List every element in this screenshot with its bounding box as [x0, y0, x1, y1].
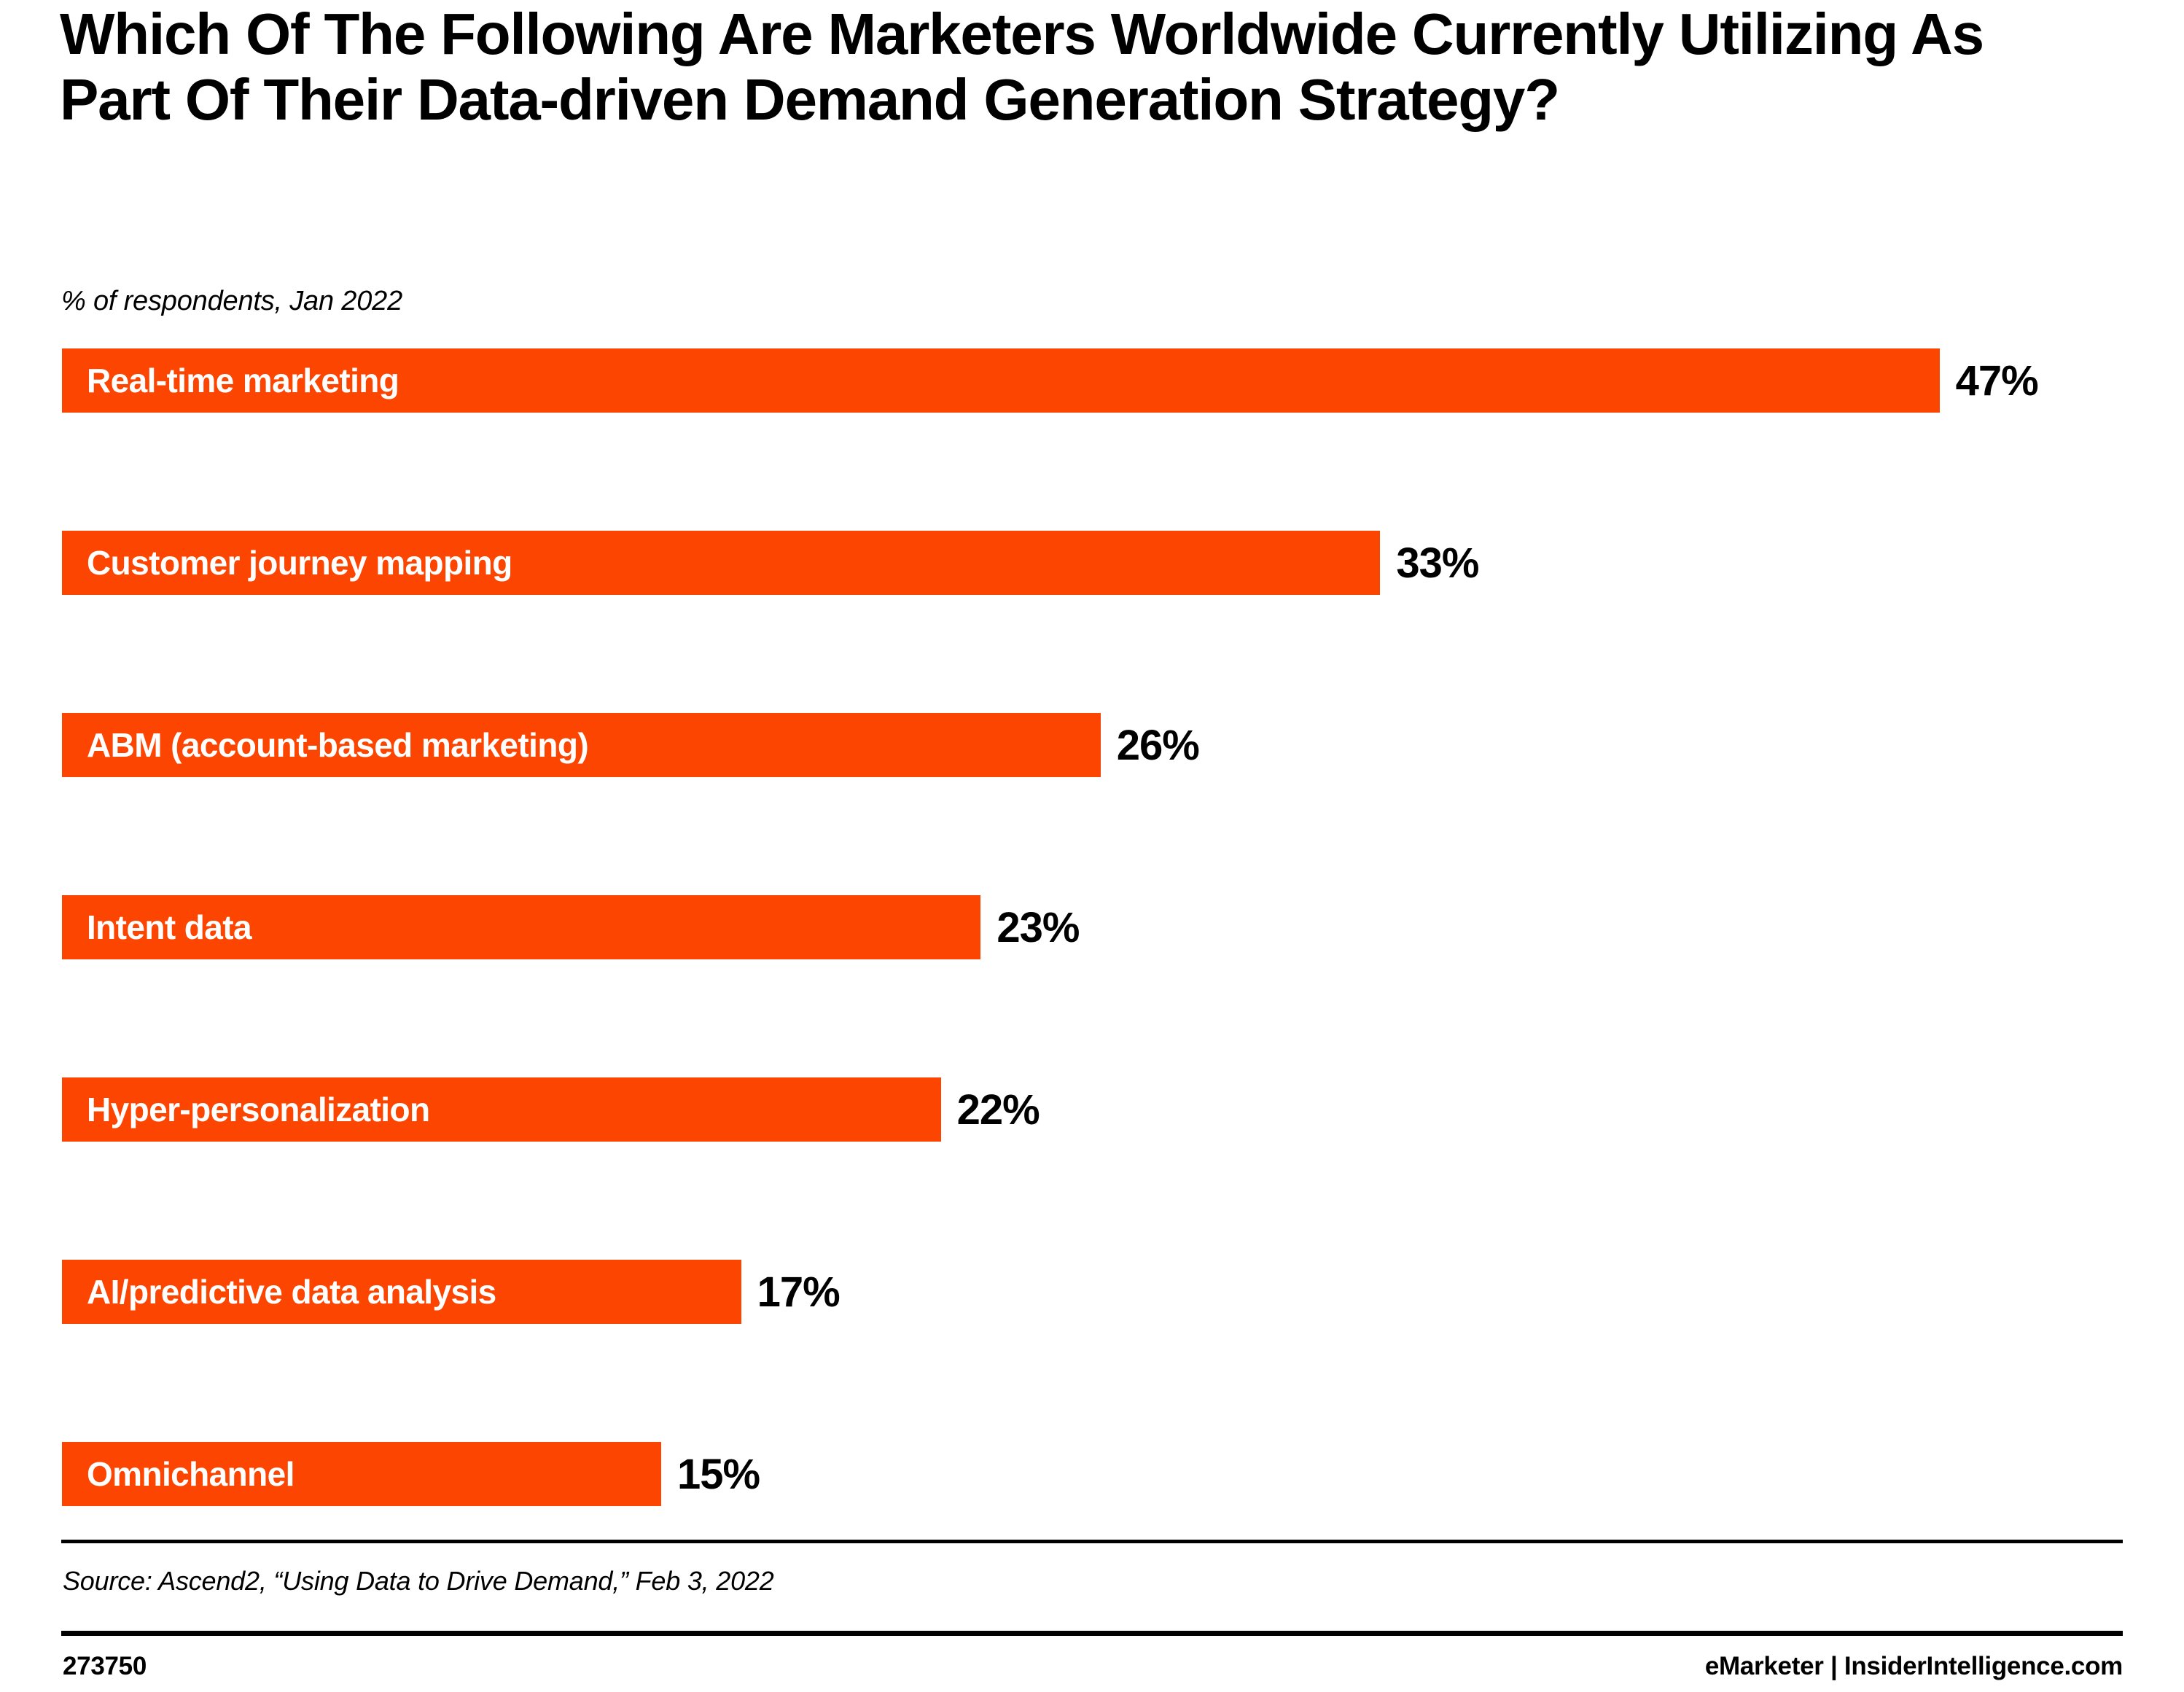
source-note: Source: Ascend2, “Using Data to Drive De…	[63, 1566, 774, 1597]
bar-row: Intent data23%	[62, 895, 1079, 959]
bar-value-label: 23%	[997, 903, 1079, 952]
bar-category-label: Omnichannel	[62, 1454, 295, 1494]
bar-category-label: Real-time marketing	[62, 361, 399, 400]
bar-row: AI/predictive data analysis17%	[62, 1260, 840, 1324]
page-title: Which Of The Following Are Marketers Wor…	[60, 1, 2101, 133]
bar-3: ABM (account-based marketing)	[62, 713, 1101, 777]
bar-row: Real-time marketing47%	[62, 348, 2038, 413]
bar-category-label: ABM (account-based marketing)	[62, 725, 588, 765]
bar-4: Intent data	[62, 895, 980, 959]
divider-above-footer	[61, 1631, 2123, 1636]
bar-value-label: 33%	[1396, 539, 1478, 588]
bar-6: AI/predictive data analysis	[62, 1260, 741, 1324]
bar-value-label: 22%	[957, 1085, 1040, 1134]
bar-category-label: Intent data	[62, 908, 251, 947]
bar-7: Omnichannel	[62, 1442, 661, 1506]
bar-1: Real-time marketing	[62, 348, 1940, 413]
bar-chart-plot-area: Real-time marketing47%Customer journey m…	[0, 348, 2184, 1515]
bar-row: Customer journey mapping33%	[62, 531, 1478, 595]
bar-2: Customer journey mapping	[62, 531, 1380, 595]
bar-value-label: 15%	[677, 1450, 760, 1499]
brand-attribution: eMarketer | InsiderIntelligence.com	[1705, 1652, 2123, 1681]
bar-value-label: 26%	[1117, 721, 1199, 770]
bar-5: Hyper-personalization	[62, 1077, 941, 1142]
bar-row: ABM (account-based marketing)26%	[62, 713, 1199, 777]
chart-subtitle: % of respondents, Jan 2022	[61, 286, 402, 317]
chart-page: Which Of The Following Are Marketers Wor…	[0, 0, 2184, 1692]
chart-id: 273750	[63, 1652, 147, 1681]
bar-row: Omnichannel15%	[62, 1442, 760, 1506]
divider-above-source	[61, 1540, 2123, 1543]
bar-category-label: AI/predictive data analysis	[62, 1272, 496, 1311]
bar-row: Hyper-personalization22%	[62, 1077, 1040, 1142]
bar-value-label: 17%	[757, 1268, 840, 1317]
bar-value-label: 47%	[1956, 356, 2038, 405]
bar-category-label: Hyper-personalization	[62, 1090, 430, 1129]
bar-category-label: Customer journey mapping	[62, 543, 512, 582]
